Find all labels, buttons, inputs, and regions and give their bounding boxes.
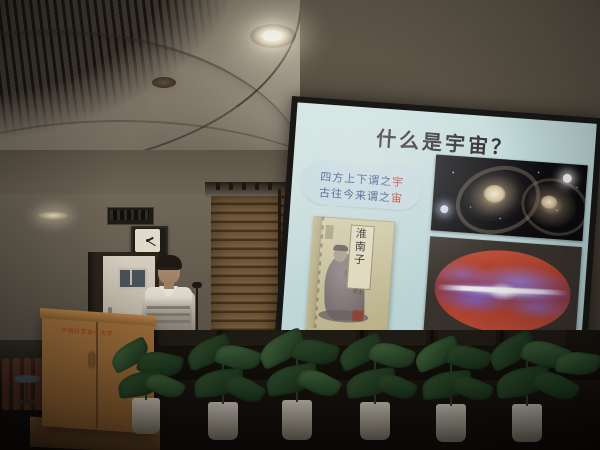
plant-pot xyxy=(436,404,466,442)
ceiling-fixture-small xyxy=(152,77,176,88)
plant-pot xyxy=(512,404,542,442)
starfield-speckles xyxy=(431,154,588,241)
shirt-stripe xyxy=(147,306,190,309)
presentation-slide: 什么是宇宙？ 四方上下谓之宇 古往今来谓之宙 淮南子 译注 xyxy=(281,102,597,361)
wall-vent-louvers xyxy=(110,210,149,220)
sage-figure-hat xyxy=(333,244,348,251)
glasses-icon xyxy=(159,268,179,274)
speech-bubble-tail xyxy=(324,201,338,213)
plant-pot xyxy=(208,402,238,440)
galaxy-photo xyxy=(431,154,588,241)
book-seal-stamp xyxy=(352,310,364,322)
lectern-panel-seam xyxy=(96,322,98,428)
recessed-downlight-icon xyxy=(38,211,68,220)
book-title: 淮南子 xyxy=(349,227,372,267)
door-window-mullion xyxy=(130,268,132,285)
plant-pot xyxy=(360,402,390,440)
microphone-icon xyxy=(192,282,202,288)
lecture-hall-photo: 什么是宇宙？ 四方上下谓之宇 古往今来谓之宙 淮南子 译注 xyxy=(0,0,600,450)
book-subtitle: 译注 xyxy=(348,289,366,296)
plant-pot xyxy=(132,398,160,434)
plant-pot xyxy=(282,400,312,440)
clock-center-pin xyxy=(146,239,149,242)
lectern-handle[interactable] xyxy=(88,352,94,368)
book-corner-label xyxy=(325,225,334,240)
stool-base xyxy=(17,400,36,404)
stool-leg xyxy=(25,382,28,402)
quote-speech-bubble: 四方上下谓之宇 古往今来谓之宙 xyxy=(300,159,423,211)
ceiling-spotlight-core xyxy=(262,30,282,41)
wall-hook-rail xyxy=(216,183,278,190)
